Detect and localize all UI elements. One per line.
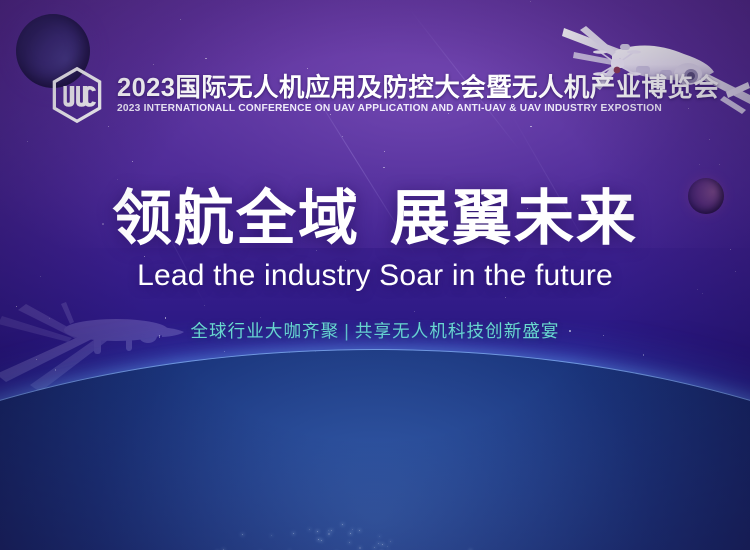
conference-poster: 2023国际无人机应用及防控大会暨无人机产业博览会 2023 INTERNATI… <box>0 0 750 550</box>
hero-subline: 全球行业大咖齐聚|共享无人机科技创新盛宴 <box>0 318 750 343</box>
earth-city-lights <box>0 350 750 550</box>
earth-sphere <box>0 350 750 550</box>
event-date-venue-en: 26-28 April， 2023 Etrong International E… <box>0 431 750 444</box>
poster-header: 2023国际无人机应用及防控大会暨无人机产业博览会 2023 INTERNATI… <box>48 66 719 124</box>
hero-subline-left: 全球行业大咖齐聚 <box>190 321 339 341</box>
earth-rim-glow <box>0 350 750 550</box>
hero-subline-divider: | <box>339 321 355 341</box>
event-venue-cn: 中国·北京亦创国际会展中心 <box>343 403 594 425</box>
event-date-cn: 2023年4月26-28日 <box>156 403 327 425</box>
hero-subline-right: 共享无人机科技创新盛宴 <box>355 321 560 341</box>
hero-headline-cn-right: 展翼未来 <box>390 185 638 252</box>
header-title-cn: 2023国际无人机应用及防控大会暨无人机产业博览会 <box>117 75 719 103</box>
event-date-venue-cn: 2023年4月26-28日中国·北京亦创国际会展中心 <box>0 402 750 427</box>
header-title-en: 2023 INTERNATIONALL CONFERENCE ON UAV AP… <box>117 103 719 115</box>
hero-block: 领航全域展翼未来 Lead the industry Soar in the f… <box>0 188 750 343</box>
event-details: 2023年4月26-28日中国·北京亦创国际会展中心 26-28 April， … <box>0 402 750 444</box>
uuc-hexagon-logo-icon <box>48 66 106 124</box>
hero-headline-cn-left: 领航全域 <box>112 185 360 252</box>
hero-headline-en: Lead the industry Soar in the future <box>0 259 750 292</box>
hero-headline-cn: 领航全域展翼未来 <box>0 188 750 249</box>
